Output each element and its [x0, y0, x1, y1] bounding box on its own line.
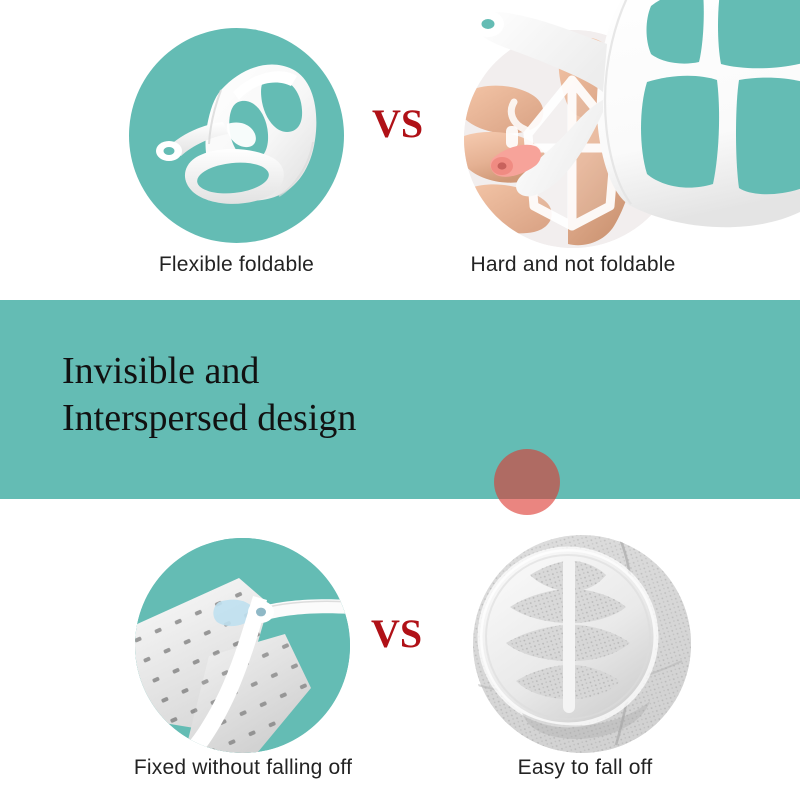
white-foldable-mask-bracket-illustration: [129, 28, 344, 243]
bracket-clipped-to-mask-illustration: [135, 538, 350, 753]
vs-badge-top: VS: [372, 100, 423, 147]
banner-headline: Invisible and Interspersed design: [62, 348, 356, 442]
caption-flexible-foldable: Flexible foldable: [129, 252, 344, 278]
infographic-page: Flexible foldable VS: [0, 0, 800, 800]
vs-badge-bottom: VS: [371, 610, 422, 657]
round-bracket-fallen-on-mask-illustration: [470, 535, 694, 753]
feature-banner: Invisible and Interspersed design: [0, 300, 800, 499]
photo-circle-flexible-foldable: [129, 28, 344, 243]
caption-hard-not-foldable: Hard and not foldable: [443, 252, 703, 278]
caption-easy-to-fall-off: Easy to fall off: [475, 755, 695, 781]
photo-circle-hard-not-foldable: [464, 30, 682, 248]
photo-circle-fixed-without-falling-off: [135, 538, 350, 753]
photo-circle-easy-to-fall-off: [470, 535, 694, 753]
caption-fixed-without-falling-off: Fixed without falling off: [113, 755, 373, 781]
hand-squeezing-hard-bracket-illustration: [464, 30, 682, 248]
ear-post-highlight-circle: [494, 449, 560, 515]
